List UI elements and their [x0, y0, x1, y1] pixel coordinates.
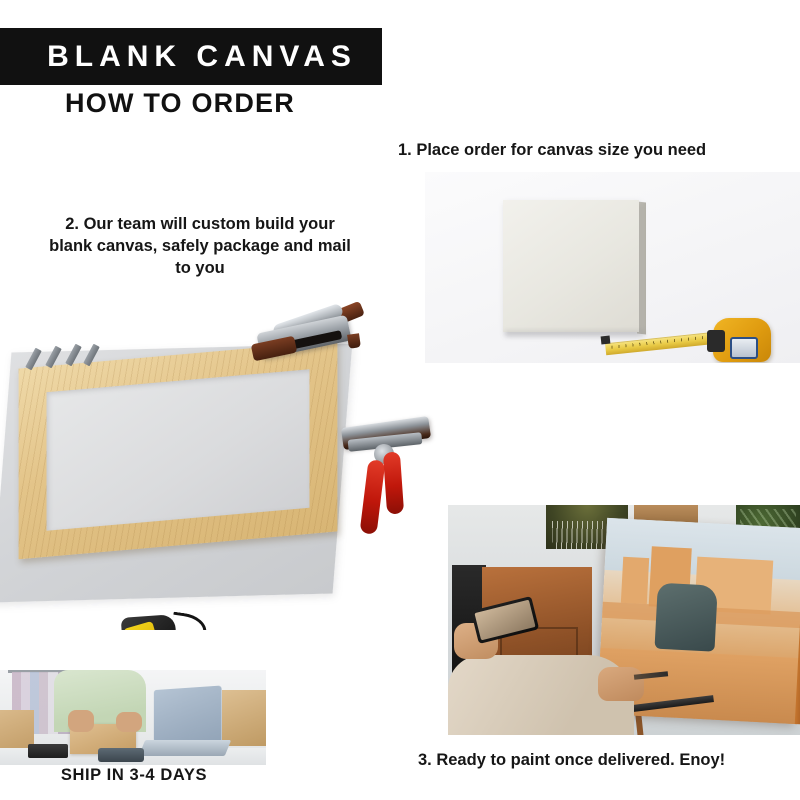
tape-measure-hook	[601, 336, 611, 345]
photo-artist-painting	[448, 505, 800, 735]
staple-gun-tip	[347, 333, 361, 349]
step-1-caption: 1. Place order for canvas size you need	[398, 140, 790, 162]
calculator	[28, 744, 68, 758]
laptop-screen	[154, 686, 222, 747]
tape-measure-case	[121, 614, 178, 630]
painting-building	[621, 557, 649, 604]
tape-measure-cord	[765, 354, 800, 363]
frame-inner-canvas	[47, 369, 310, 531]
photo-blank-canvas	[425, 172, 800, 363]
title-banner: BLANK CANVAS	[0, 28, 382, 85]
painting-dark-shape	[654, 583, 717, 652]
pliers-handle-red	[383, 451, 404, 514]
staple-icon	[25, 348, 42, 371]
shipping-caption: SHIP IN 3-4 DAYS	[0, 765, 268, 787]
staples-group-icon	[28, 344, 100, 372]
staple-icon	[65, 344, 82, 367]
staple-gun-icon	[250, 300, 368, 376]
blank-canvas-front	[503, 200, 639, 332]
step-3-caption: 3. Ready to paint once delivered. Enoy!	[418, 750, 796, 772]
hand-left	[68, 710, 94, 732]
canvas-pliers-icon	[340, 418, 440, 568]
pliers-handle-red	[360, 459, 386, 535]
hand-right	[116, 712, 142, 732]
staple-icon	[45, 346, 62, 369]
page-title: BLANK CANVAS	[25, 40, 357, 74]
photo-stretcher-frame	[0, 300, 440, 630]
phone-on-desk	[98, 748, 144, 762]
tape-measure-cord	[171, 612, 209, 630]
tape-measure-face	[123, 621, 159, 630]
step-2-caption: 2. Our team will custom build your blank…	[44, 214, 356, 279]
tape-measure-window	[730, 337, 758, 359]
infographic-page: BLANK CANVAS HOW TO ORDER 1. Place order…	[0, 0, 800, 800]
artist-hand	[598, 667, 644, 701]
staple-icon	[83, 344, 100, 367]
cardboard-box	[222, 690, 266, 746]
photo-packing-order	[0, 670, 266, 765]
tape-measure-body-icon	[713, 318, 771, 362]
tape-measure-slot	[707, 330, 725, 352]
canvas-shadow	[505, 330, 645, 337]
page-subtitle: HOW TO ORDER	[0, 88, 360, 119]
laptop-keyboard	[139, 740, 231, 756]
